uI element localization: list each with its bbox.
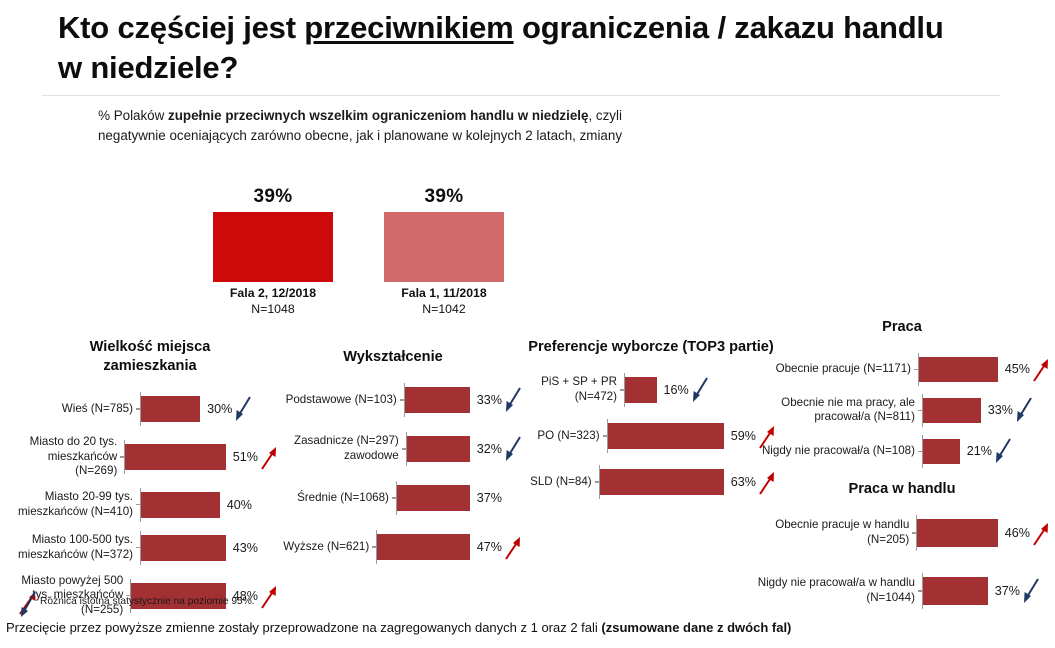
chart-row: Wyższe (N=621)47%	[262, 530, 524, 564]
panel-title-preferencje: Preferencje wyborcze (TOP3 partie)	[524, 338, 778, 357]
chart-row: Miasto 20-99 tys. mieszkańców (N=410)40%	[10, 488, 280, 522]
bar	[141, 396, 200, 422]
category-label: Średnie (N=1068)	[262, 491, 396, 506]
chart-row: Obecnie nie ma pracy, ale pracował/a (N=…	[752, 394, 1052, 427]
category-label: Podstawowe (N=103)	[262, 393, 404, 408]
panel-praca: PracaObecnie pracuje (N=1171)45%Obecnie …	[752, 318, 1052, 468]
bar-value-label: 40%	[227, 498, 252, 512]
bar	[923, 577, 988, 605]
chart-row: Obecnie pracuje (N=1171)45%	[752, 353, 1052, 386]
arrow-down-icon	[1013, 395, 1035, 425]
bar-value-label: 33%	[988, 403, 1013, 417]
wave2-caption: Fala 2, 12/2018 N=1048	[213, 285, 333, 317]
bar	[625, 377, 657, 403]
panel-title-praca-handlu: Praca w handlu	[752, 480, 1052, 499]
wave2-bar	[213, 212, 333, 282]
axis-tick	[136, 504, 141, 505]
panel-title-wielkosc: Wielkość miejsca zamieszkania	[50, 338, 250, 376]
wave2-label: Fala 2, 12/2018	[230, 286, 316, 300]
bar	[407, 436, 470, 462]
panel-title-praca: Praca	[752, 318, 1052, 337]
category-label: Zasadnicze (N=297) zawodowe	[262, 434, 406, 463]
axis-tick	[372, 546, 377, 547]
category-label: Obecnie pracuje (N=1171)	[752, 362, 918, 377]
bar	[141, 492, 220, 518]
subtitle-part1: % Polaków	[98, 108, 168, 123]
slide: Kto częściej jest przeciwnikiem ogranicz…	[0, 0, 1055, 648]
panel-preferencje-wyborcze: Preferencje wyborcze (TOP3 partie)PiS + …	[524, 338, 778, 499]
bar-value-label: 32%	[477, 442, 502, 456]
category-label: Wieś (N=785)	[10, 402, 140, 417]
wave-block-fala2: 39% Fala 2, 12/2018 N=1048	[213, 186, 333, 317]
wave2-n: N=1048	[213, 301, 333, 317]
bar-axis-area: 33%	[404, 383, 524, 417]
bar-value-label: 43%	[233, 541, 258, 555]
bar-axis-area: 16%	[624, 373, 711, 407]
bar-value-label: 21%	[967, 444, 992, 458]
bar-axis-area: 40%	[140, 488, 274, 522]
bar-axis-area: 46%	[916, 515, 1052, 551]
axis-tick	[402, 448, 407, 449]
axis-tick	[136, 408, 141, 409]
chart-row: Średnie (N=1068)37%	[262, 481, 524, 515]
title-divider	[42, 95, 1000, 96]
wave1-percent: 39%	[384, 186, 504, 208]
chart-row: Nigdy nie pracował/a (N=108)21%	[752, 435, 1052, 468]
bar-value-label: 47%	[477, 540, 502, 554]
category-label: Miasto 100-500 tys. mieszkańców (N=372)	[10, 533, 140, 562]
axis-tick	[914, 369, 919, 370]
chart-row: Podstawowe (N=103)33%	[262, 383, 524, 417]
title-line1-underlined: przeciwnikiem	[304, 10, 513, 45]
panel-praca-w-handlu: Praca w handluObecnie pracuje w handlu (…	[752, 480, 1052, 609]
chart-row: Zasadnicze (N=297) zawodowe32%	[262, 432, 524, 466]
category-label: Obecnie pracuje w handlu (N=205)	[752, 518, 916, 547]
category-label: Obecnie nie ma pracy, ale pracował/a (N=…	[752, 396, 922, 425]
bar-axis-area: 21%	[922, 435, 1014, 468]
axis-tick	[120, 456, 125, 457]
axis-tick	[595, 481, 600, 482]
chart-row: Wieś (N=785)30%	[10, 392, 280, 426]
bar-axis-area: 32%	[406, 432, 524, 466]
wave2-percent: 39%	[213, 186, 333, 208]
arrow-up-icon	[258, 581, 280, 611]
category-label: PO (N=323)	[524, 429, 607, 444]
chart-row: Miasto do 20 tys. mieszkańców (N=269)51%	[10, 435, 280, 479]
chart-wielkosc: Wieś (N=785)30%Miasto do 20 tys. mieszka…	[10, 392, 280, 618]
bar	[397, 485, 470, 511]
chart-row: Miasto 100-500 tys. mieszkańców (N=372)4…	[10, 531, 280, 565]
bar	[923, 398, 981, 423]
category-label: PiS + SP + PR (N=472)	[524, 375, 624, 404]
arrow-down-icon	[992, 436, 1014, 466]
bottom-note-part1: Przecięcie przez powyższe zmienne został…	[6, 620, 601, 635]
bar-axis-area: 30%	[140, 392, 254, 426]
axis-tick	[136, 547, 141, 548]
axis-tick	[392, 497, 397, 498]
axis-tick	[620, 389, 625, 390]
bar-axis-area: 51%	[124, 440, 280, 474]
bar	[405, 387, 470, 413]
page-title: Kto częściej jest przeciwnikiem ogranicz…	[58, 8, 1018, 87]
chart-praca: Obecnie pracuje (N=1171)45%Obecnie nie m…	[752, 353, 1052, 468]
wave1-label: Fala 1, 11/2018	[401, 286, 486, 300]
bar-axis-area: 37%	[396, 481, 524, 515]
bar-axis-area: 33%	[922, 394, 1035, 427]
chart-row: PO (N=323)59%	[524, 419, 778, 453]
axis-tick	[918, 590, 923, 591]
category-label: Miasto do 20 tys. mieszkańców (N=269)	[10, 435, 124, 479]
bottom-note: Przecięcie przez powyższe zmienne został…	[6, 620, 1051, 637]
chart-preferencje: PiS + SP + PR (N=472)16%PO (N=323)59%SLD…	[524, 373, 778, 499]
panel-wyksztalcenie: WykształceniePodstawowe (N=103)33%Zasadn…	[262, 348, 524, 564]
bar-axis-area: 47%	[376, 530, 524, 564]
title-line2: w niedziele?	[58, 50, 238, 85]
bar	[600, 469, 724, 495]
wave1-bar	[384, 212, 504, 282]
chart-wyksztalcenie: Podstawowe (N=103)33%Zasadnicze (N=297) …	[262, 383, 524, 564]
wave-block-fala1: 39% Fala 1, 11/2018 N=1042	[384, 186, 504, 317]
arrow-none-icon	[502, 483, 524, 513]
bar-value-label: 45%	[1005, 362, 1030, 376]
subtitle-bold1: zupełnie przeciwnych wszelkim ograniczen…	[168, 108, 588, 123]
chart-row: Obecnie pracuje w handlu (N=205)46%	[752, 515, 1052, 551]
category-label: Miasto 20-99 tys. mieszkańców (N=410)	[10, 490, 140, 519]
footnote: Różnica istotna statystycznie na poziomi…	[40, 596, 255, 607]
bar-axis-area: 43%	[140, 531, 280, 565]
arrow-down-icon	[689, 375, 711, 405]
arrow-down-icon	[502, 385, 524, 415]
bar-value-label: 37%	[477, 491, 502, 505]
arrow-up-icon	[1030, 518, 1052, 548]
bar	[125, 444, 225, 470]
title-line1-post: ograniczenia / zakazu handlu	[514, 10, 944, 45]
axis-tick	[918, 410, 923, 411]
category-label: SLD (N=84)	[524, 475, 599, 490]
bar	[608, 423, 724, 449]
bar	[919, 357, 998, 382]
chart-row: SLD (N=84)63%	[524, 465, 778, 499]
bottom-note-bold1: (zsumowane dane z dwóch fal)	[601, 620, 791, 635]
category-label: Nigdy nie pracował/a (N=108)	[752, 444, 922, 459]
axis-tick	[603, 435, 608, 436]
bar	[923, 439, 960, 464]
bar-value-label: 30%	[207, 402, 232, 416]
bar-value-label: 33%	[477, 393, 502, 407]
bar-value-label: 46%	[1005, 526, 1030, 540]
arrow-down-icon	[502, 434, 524, 464]
bar-value-label: 51%	[233, 450, 258, 464]
chart-praca-handlu: Obecnie pracuje w handlu (N=205)46%Nigdy…	[752, 515, 1052, 609]
bar-value-label: 37%	[995, 584, 1020, 598]
wave1-caption: Fala 1, 11/2018 N=1042	[384, 285, 504, 317]
title-line1-pre: Kto częściej jest	[58, 10, 304, 45]
wave1-n: N=1042	[384, 301, 504, 317]
subtitle: % Polaków zupełnie przeciwnych wszelkim …	[82, 106, 638, 147]
arrow-up-icon	[502, 532, 524, 562]
arrow-up-icon	[1030, 354, 1052, 384]
bar-value-label: 16%	[664, 383, 689, 397]
bar	[917, 519, 998, 547]
arrow-down-icon	[1020, 576, 1042, 606]
axis-tick	[918, 451, 923, 452]
axis-tick	[400, 399, 405, 400]
bar	[377, 534, 470, 560]
chart-row: Nigdy nie pracował/a w handlu (N=1044)37…	[752, 573, 1052, 609]
bar-axis-area: 45%	[918, 353, 1052, 386]
chart-row: PiS + SP + PR (N=472)16%	[524, 373, 778, 407]
category-label: Wyższe (N=621)	[262, 540, 376, 555]
panel-wielkosc-miejsca-zamieszkania: Wielkość miejsca zamieszkaniaWieś (N=785…	[10, 338, 280, 618]
axis-tick	[912, 532, 917, 533]
category-label: Nigdy nie pracował/a w handlu (N=1044)	[752, 576, 922, 605]
panel-title-wyksztalcenie: Wykształcenie	[262, 348, 524, 367]
bar	[141, 535, 226, 561]
bar-axis-area: 37%	[922, 573, 1042, 609]
arrow-down-icon	[232, 394, 254, 424]
